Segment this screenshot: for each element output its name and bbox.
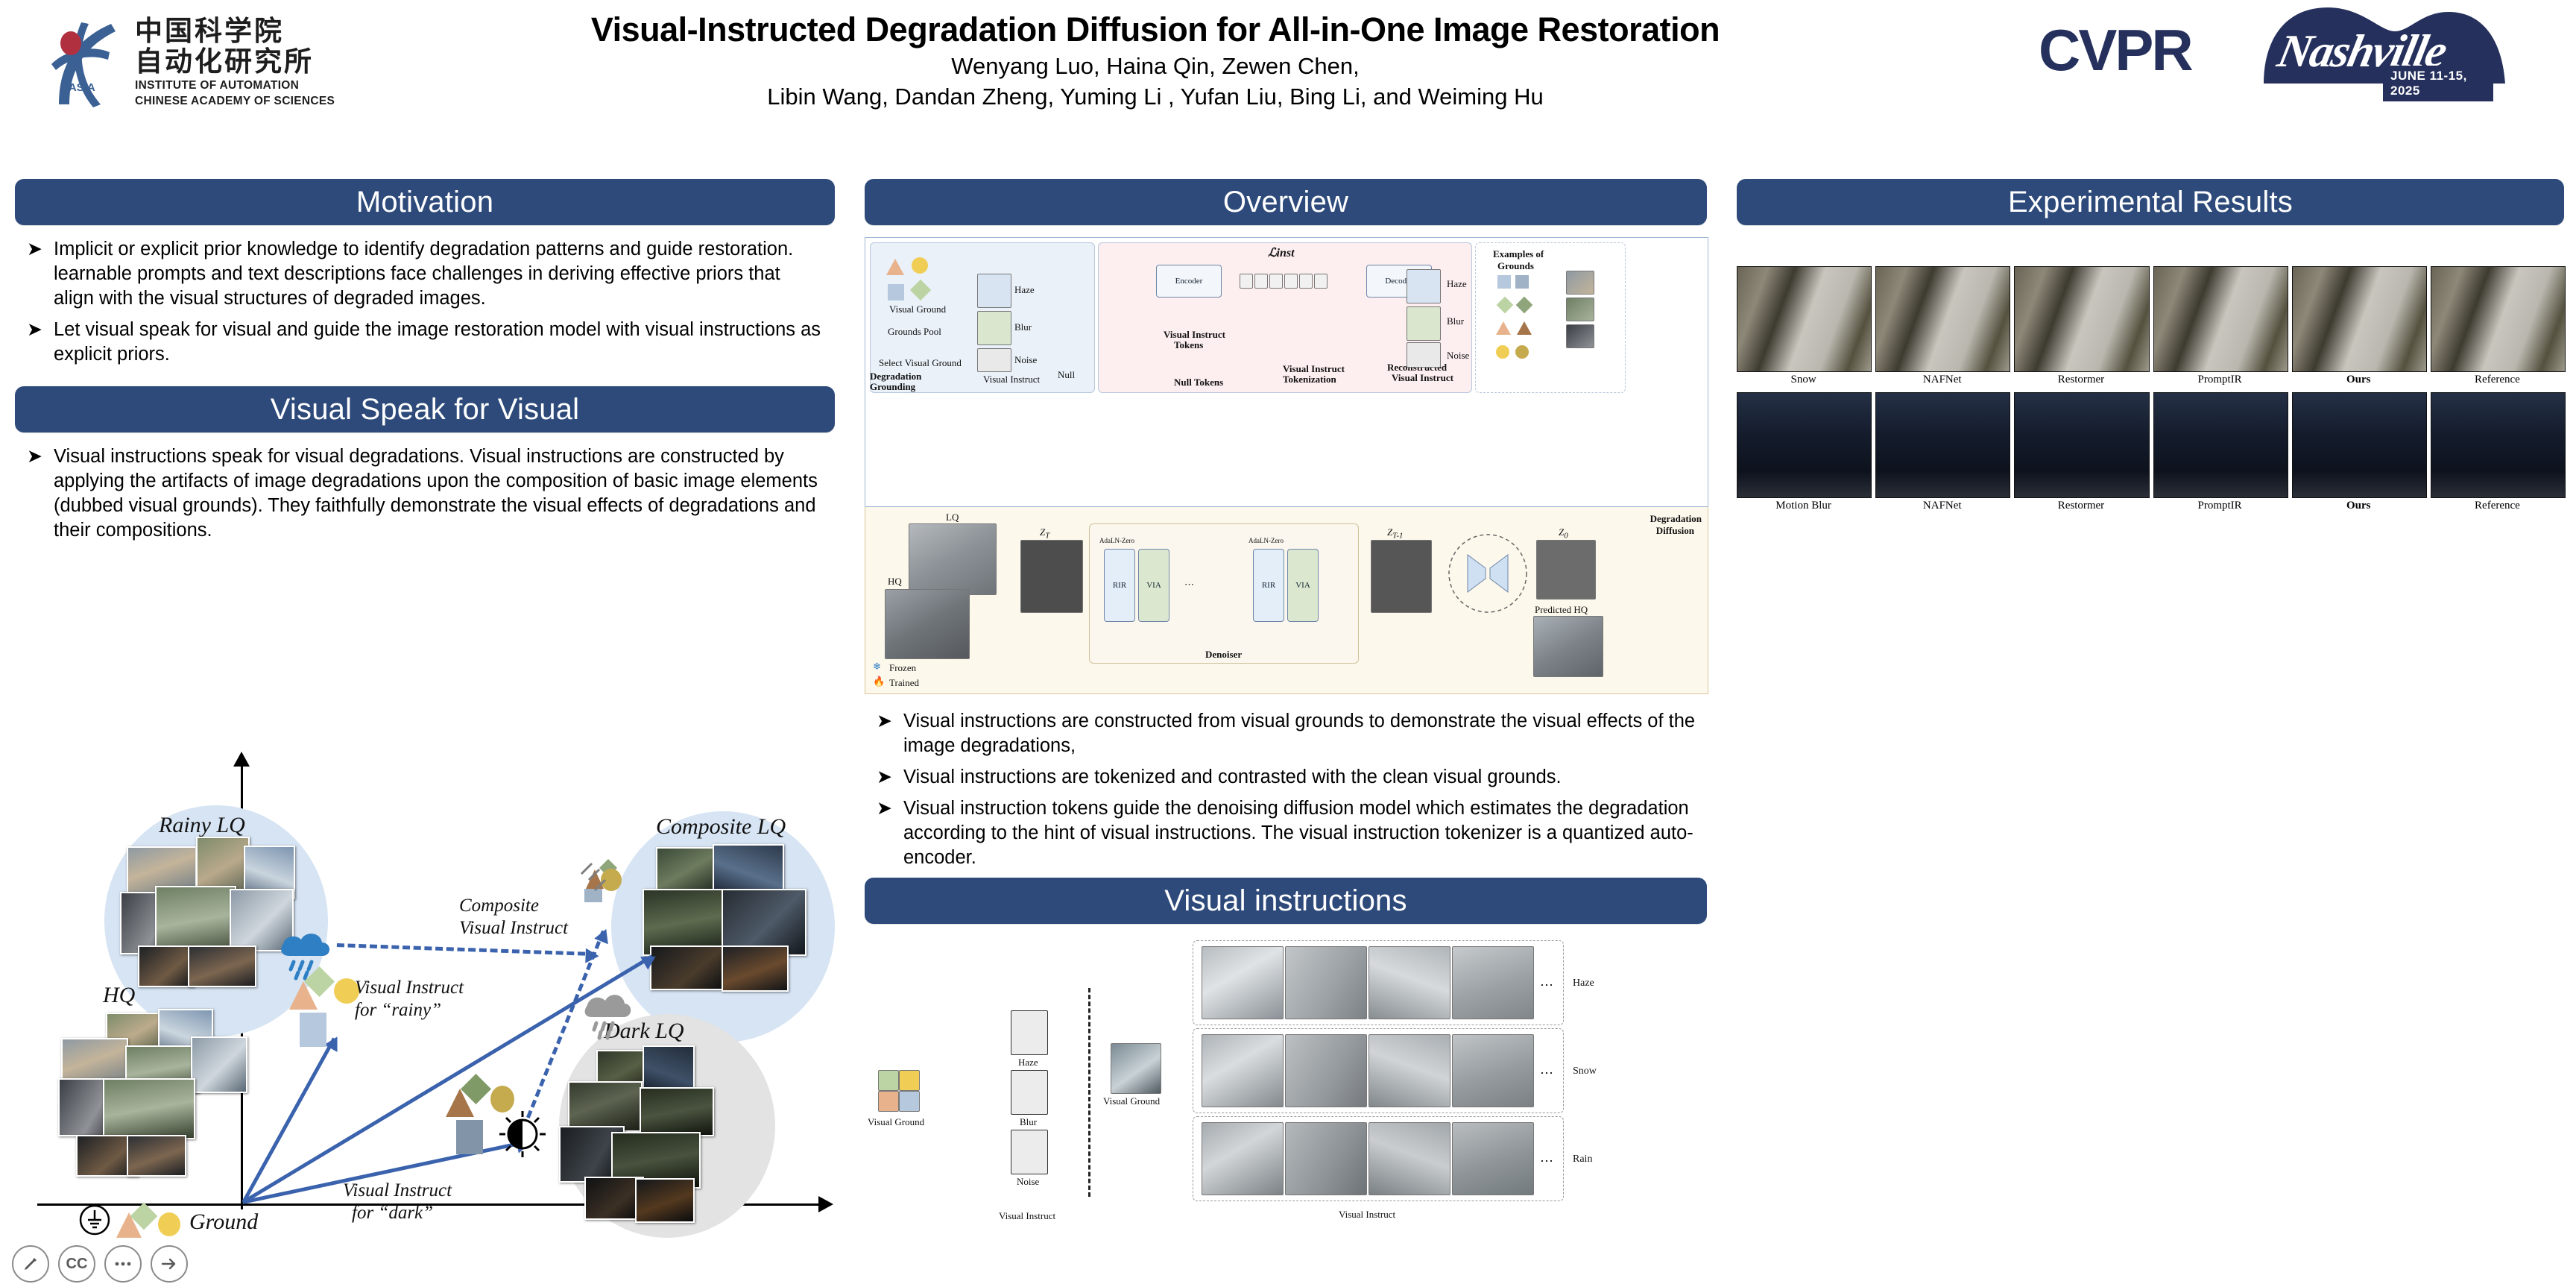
column-middle: Overview ℒinst Examples of Grounds Groun… [865,179,1707,1234]
qual-label: Motion Blur [1737,500,1870,512]
hq-image [885,589,970,659]
via-block: VIA [1287,549,1319,622]
qual-label: Reference [2431,500,2564,512]
snowflake-icon: ❄ [873,661,881,673]
reconstructed-visual-instruct-label-2: Visual Instruct [1392,372,1453,384]
vi-divider [1088,988,1090,1197]
overview-bullet-0: Visual instructions are constructed from… [903,711,1695,756]
loss-label: ℒinst [1268,245,1295,260]
vi-left-visual-instruct-label: Visual Instruct [999,1210,1055,1222]
casia-swoosh-icon: CASIA [47,19,119,107]
vi-row-label-rain: Rain [1573,1154,1592,1165]
list-item: ➤ Visual instructions are constructed fr… [869,709,1696,758]
dark-rect-shape [456,1120,483,1154]
label-visual-instruct-rainy-1: Visual Instruct [355,977,464,999]
qual-image [2292,392,2427,498]
vi-noise-label: Noise [1017,1176,1039,1188]
section-header-experimental-results: Experimental Results [1737,179,2564,225]
pool-circle-shape [912,257,928,274]
list-item: ➤ Visual instructions speak for visual d… [19,444,824,543]
bottom-toolbar: CC [0,1238,2576,1287]
example-circle-shape [1496,345,1509,359]
qual-label: Reference [2431,374,2564,386]
recon-thumb [1407,342,1441,368]
ztm1-label: ZT-1 [1387,526,1403,541]
column-right: Experimental Results [1737,179,2564,512]
qual-label: NAFNet [1875,374,2009,386]
vi-visual-instruct-label: Visual Instruct [1339,1209,1395,1221]
examples-of-grounds-label: Examples of [1493,248,1544,260]
casia-emblem-icon: CASIA [41,16,129,109]
label-composite-visual-instruct-2: Visual Instruct [459,917,568,940]
cc-icon: CC [66,1256,88,1273]
title-block: Visual-Instructed Degradation Diffusion … [522,10,1789,110]
example-triangle-shape [1496,321,1511,335]
qual-image [2153,266,2288,372]
pool-triangle-shape [886,259,904,275]
token-chip [1299,274,1313,289]
section-header-overview: Overview [865,179,1707,225]
recon-thumb [1407,306,1441,341]
qual-cell: NAFNet [1875,266,2009,386]
vi-blur-box [1011,1070,1048,1115]
adaln-label-1: AdaLN-Zero [1099,537,1134,544]
visual-instruct-thumb [977,274,1011,308]
label-visual-instruct-dark-1: Visual Instruct [343,1180,452,1202]
visual-instruct-tokenization-label-2: Tokenization [1283,374,1336,386]
section-header-motivation: Motivation [15,179,835,225]
vi-sample [1202,946,1284,1019]
degradation-grounding-label-2: Grounding [870,381,915,393]
encoder-block: Encoder [1156,265,1222,298]
bullet-arrow-icon: ➤ [27,237,42,262]
arrow-tip-icon [594,926,613,944]
visual-instruct-thumb [977,348,1011,372]
vi-sample [1285,1034,1367,1107]
dark-ellipse-shape [490,1086,514,1113]
qual-cell: Restormer [2014,266,2147,386]
example-circle-shape [1515,345,1529,359]
cvpr-logo: CVPR Nashville JUNE 11-15, 2025 [2039,9,2493,95]
overview-diagram-top: ℒinst Examples of Grounds Grounds Pool V… [865,237,1708,507]
select-visual-ground-label: Select Visual Ground [879,357,962,369]
ellipsis-blocks: ⋯ [1184,579,1194,591]
qual-image [1737,392,1872,498]
noise-label-right: Noise [1447,350,1469,362]
overview-bullet-list: ➤ Visual instructions are constructed fr… [865,709,1707,870]
list-item: ➤ Visual instruction tokens guide the de… [869,796,1696,870]
poster-header: CASIA 中国科学院 自动化研究所 INSTITUTE OF AUTOMATI… [0,0,2576,153]
bullet-arrow-icon: ➤ [877,709,892,734]
composite-gray-cloud-icon [581,992,635,1042]
label-visual-instruct-dark-2: for “dark” [352,1202,433,1224]
next-slide-button[interactable] [151,1245,188,1283]
trained-label: Trained [889,677,919,689]
overview-bullet-2: Visual instruction tokens guide the deno… [903,798,1693,868]
brightness-sun-icon [498,1110,547,1159]
motivation-bullet-list: ➤ Implicit or explicit prior knowledge t… [15,237,835,367]
frozen-label: Frozen [889,662,916,674]
arrow-tip-icon [324,1033,344,1051]
visual-speak-bullet-list: ➤ Visual instructions speak for visual d… [15,444,835,543]
vi-ellipsis: ⋯ [1540,1066,1553,1081]
captions-button[interactable]: CC [58,1245,95,1283]
rir-block: RIR [1104,549,1135,622]
author-line-1: Wenyang Luo, Haina Qin, Zewen Chen, [522,52,1789,80]
flame-icon: 🔥 [873,676,885,687]
qual-label: PromptIR [2153,374,2287,386]
composite-photo [722,945,789,992]
rainy-photo [138,945,195,987]
lq-image [909,523,997,595]
ztm1-latent [1371,540,1432,613]
zt-label: ZT [1040,526,1049,541]
degradation-diffusion-label: Degradation [1650,513,1702,525]
visual-instructions-figure: Visual Ground Haze Blur Noise Visual Gro… [865,936,1707,1234]
legend-ellipse-shape [158,1212,180,1236]
haze-label-right: Haze [1447,278,1467,290]
qual-cell: Motion Blur [1737,392,1870,512]
qualitative-row-motion-blur: Motion Blur NAFNet Restormer PromptIR Ou… [1737,392,2564,512]
vi-sample [1452,1122,1534,1195]
visual-instruct-tokens-label-2: Tokens [1174,339,1203,351]
arrow-rain-to-composite [337,943,596,956]
vi-sample [1285,1122,1367,1195]
composite-photo [650,945,724,990]
casia-en-line2: CHINESE ACADEMY OF SCIENCES [135,95,335,108]
vi-noise-box [1011,1130,1048,1174]
label-hq: HQ [103,983,135,1008]
rir-block: RIR [1253,549,1284,622]
qualitative-row-snow: Snow NAFNet Restormer PromptIR Ours Refe… [1737,266,2564,386]
casia-cn-line1: 中国科学院 [135,16,335,46]
qual-image [2014,266,2149,372]
pen-icon [22,1256,39,1272]
visual-speak-bullet-0: Visual instructions speak for visual deg… [54,446,818,541]
casia-cn-line2: 自动化研究所 [135,46,335,77]
blur-label-right: Blur [1447,315,1464,327]
composite-instruct-shapes-icon [572,858,622,904]
cvpr-date-badge: JUNE 11-15, 2025 [2383,66,2493,101]
qual-label: Restormer [2014,374,2147,386]
examples-of-grounds-label-2: Grounds [1497,260,1534,272]
hq-label-bottom: HQ [888,576,902,588]
label-composite-visual-instruct-1: Composite [459,895,539,917]
qual-label: PromptIR [2153,500,2287,512]
arrow-hq-to-rainy [242,1037,336,1202]
list-item: ➤ Implicit or explicit prior knowledge t… [19,237,824,311]
casia-en-line1: INSTITUTE OF AUTOMATION [135,79,335,92]
qual-label-ours: Ours [2292,374,2425,386]
vi-sample [1368,946,1450,1019]
grounds-pool-label: Grounds Pool [888,326,941,338]
predicted-hq-label: Predicted HQ [1535,604,1588,616]
qual-cell: Snow [1737,266,1870,386]
vi-ground-square [878,1070,899,1091]
null-label: Null [1058,369,1075,381]
more-options-button[interactable] [104,1245,142,1283]
hq-photo [103,1078,195,1139]
qual-image [1737,266,1872,372]
token-chip [1254,274,1268,289]
label-composite-lq: Composite LQ [656,814,786,840]
qual-cell: Ours [2292,266,2425,386]
poster-canvas: CASIA 中国科学院 自动化研究所 INSTITUTE OF AUTOMATI… [0,0,2576,1287]
token-chip [1240,274,1253,289]
vi-visual-ground-image-label: Visual Ground [1103,1095,1160,1107]
vi-ground-square [878,1091,899,1112]
visual-instruct-space-figure: Rainy LQ HQ Composite LQ Dark LQ [15,753,846,1238]
motivation-bullet-1: Let visual speak for visual and guide th… [54,319,821,365]
qual-cell: Ours [2292,392,2425,512]
vi-visual-ground-label: Visual Ground [868,1116,924,1128]
token-chip [1284,274,1298,289]
vi-sample [1202,1034,1284,1107]
svg-text:CASIA: CASIA [60,81,95,94]
vi-ground-square [899,1091,920,1112]
recon-thumb [1407,269,1441,303]
vi-sample [1368,1122,1450,1195]
qual-cell: Restormer [2014,392,2147,512]
vi-haze-box [1011,1010,1048,1055]
vi-row-label-snow: Snow [1573,1066,1597,1077]
qual-label: NAFNet [1875,500,2009,512]
haze-label: Haze [1014,284,1035,296]
ground-rect-shape [300,1013,326,1047]
hq-photo [191,1036,247,1093]
vi-sample [1368,1034,1450,1107]
qual-image [2014,392,2149,498]
ellipsis-icon [115,1262,131,1266]
denoiser-label: Denoiser [1205,649,1242,661]
example-triangle-shape [1517,321,1532,335]
visual-instruct-label: Visual Instruct [983,374,1040,386]
blur-label: Blur [1014,321,1032,333]
vi-haze-label: Haze [1018,1057,1038,1069]
column-left: Motivation ➤ Implicit or explicit prior … [15,179,835,550]
vi-sample [1452,946,1534,1019]
example-photo [1566,324,1594,348]
dark-photo [640,1087,714,1136]
null-tokens-label: Null Tokens [1174,377,1223,388]
qual-image [1875,266,2010,372]
list-item: ➤ Let visual speak for visual and guide … [19,318,824,367]
zt-latent [1020,540,1083,613]
bullet-arrow-icon: ➤ [27,318,42,342]
qual-image [2292,266,2427,372]
vi-blur-label: Blur [1020,1116,1037,1128]
adaln-label-2: AdaLN-Zero [1248,537,1284,544]
visual-ground-label: Visual Ground [889,303,946,315]
label-visual-instruct-rainy-2: for “rainy” [355,999,441,1022]
qual-label: Snow [1737,374,1870,386]
example-square-shape [1497,275,1511,289]
vi-visual-ground-image [1111,1043,1161,1094]
qual-cell: NAFNet [1875,392,2009,512]
x-axis-arrow-icon [818,1196,833,1212]
overview-diagram-bottom: Degradation Diffusion LQ HQ ZT ZT-1 Z0 P… [865,507,1708,694]
vi-ellipsis: ⋯ [1540,978,1553,993]
qual-cell: Reference [2431,392,2564,512]
qual-image [2431,266,2566,372]
section-header-visual-speak: Visual Speak for Visual [15,386,835,432]
via-block: VIA [1138,549,1169,622]
casia-logo: CASIA 中国科学院 自动化研究所 INSTITUTE OF AUTOMATI… [41,13,369,110]
rainy-photo [188,945,256,987]
vi-sample [1285,946,1367,1019]
cvpr-wordmark: CVPR [2039,21,2191,79]
bullet-arrow-icon: ➤ [27,444,42,469]
overview-pipeline-figure: ℒinst Examples of Grounds Grounds Pool V… [865,237,1707,694]
hq-photo [127,1135,186,1177]
vae-decoder-icon [1447,532,1529,614]
z0-latent [1536,540,1596,600]
annotate-pen-button[interactable] [12,1245,49,1283]
qual-cell: Reference [2431,266,2564,386]
token-chip [1269,274,1283,289]
z0-label: Z0 [1559,526,1568,541]
visual-instruct-thumb [977,311,1011,345]
arrow-right-icon [161,1257,177,1271]
vi-ellipsis: ⋯ [1540,1154,1553,1169]
token-chip [1314,274,1328,289]
qual-label: Restormer [2014,500,2147,512]
label-rainy-lq: Rainy LQ [159,813,245,838]
label-ground: Ground [189,1209,258,1235]
noise-label: Noise [1014,354,1037,366]
qual-image [1875,392,2010,498]
degradation-diffusion-label-2: Diffusion [1656,525,1694,537]
vi-sample [1202,1122,1284,1195]
qual-cell: PromptIR [2153,266,2287,386]
vi-sample [1452,1034,1534,1107]
example-photo [1566,271,1594,295]
ground-symbol-icon [79,1204,110,1236]
dark-photo [568,1081,643,1132]
author-line-2: Libin Wang, Dandan Zheng, Yuming Li , Yu… [522,83,1789,110]
qual-image [2431,392,2566,498]
example-square-shape [1515,275,1529,289]
list-item: ➤ Visual instructions are tokenized and … [869,765,1696,790]
vi-row-label-haze: Haze [1573,978,1594,989]
y-axis-arrow-icon [233,752,250,767]
qual-cell: PromptIR [2153,392,2287,512]
pool-square-shape [888,284,904,300]
overview-bullet-1: Visual instructions are tokenized and co… [903,767,1562,787]
vi-ground-square [899,1070,920,1091]
qual-label-ours: Ours [2292,500,2425,512]
lq-label: LQ [946,512,959,523]
dark-photo [635,1178,695,1223]
qual-image [2153,392,2288,498]
section-header-visual-instructions: Visual instructions [865,878,1707,924]
bullet-arrow-icon: ➤ [877,796,892,821]
poster-title: Visual-Instructed Degradation Diffusion … [522,10,1789,49]
predicted-hq-image [1533,616,1603,677]
example-photo [1566,298,1594,321]
motivation-bullet-0: Implicit or explicit prior knowledge to … [54,239,793,309]
bullet-arrow-icon: ➤ [877,765,892,790]
